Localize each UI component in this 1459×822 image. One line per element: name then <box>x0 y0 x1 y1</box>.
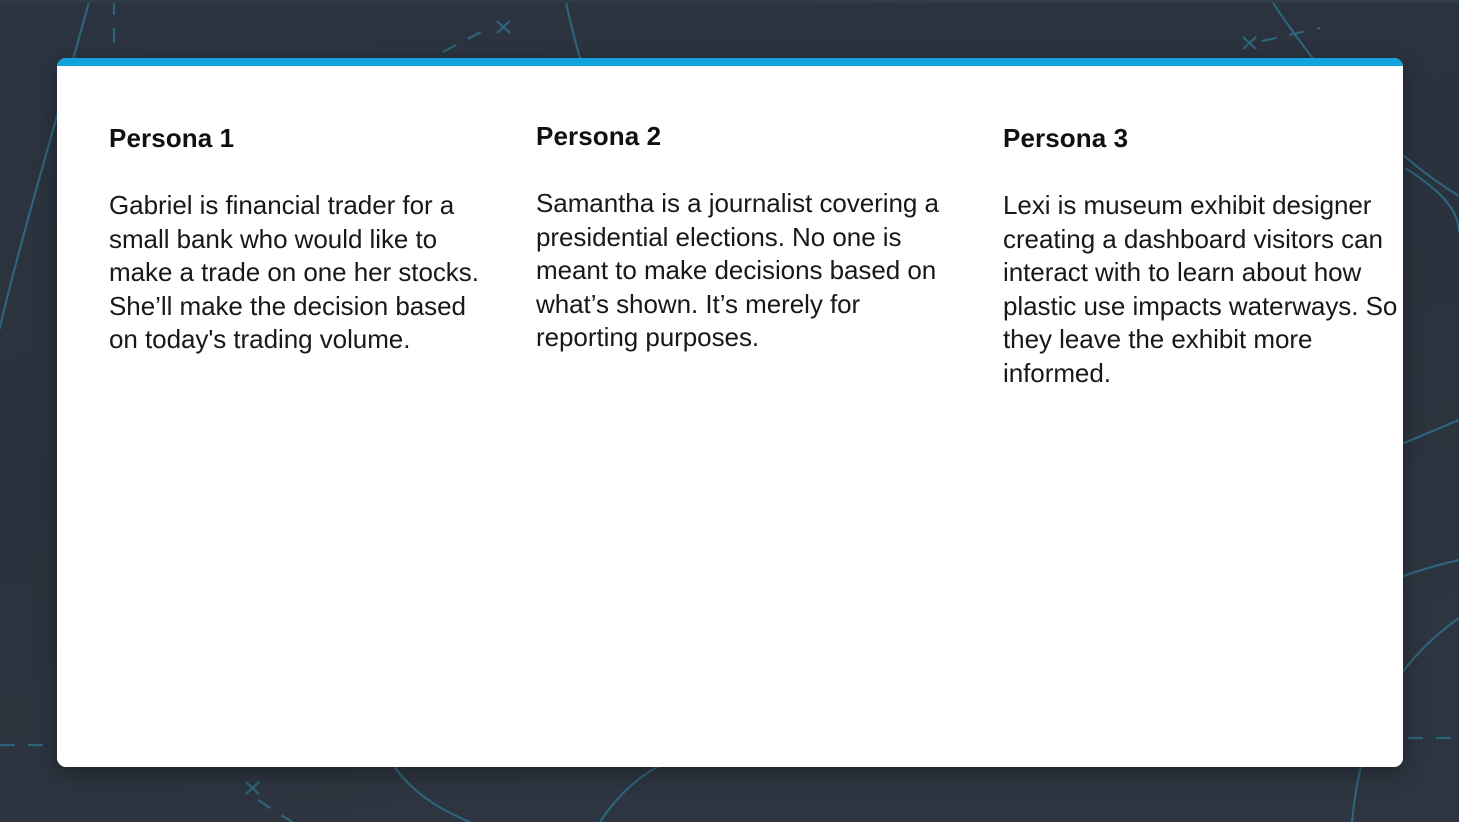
top-edge-band <box>0 0 1459 3</box>
persona-card: Persona 1 Gabriel is financial trader fo… <box>57 58 1403 767</box>
persona-1-title: Persona 1 <box>109 66 483 153</box>
persona-column-1: Persona 1 Gabriel is financial trader fo… <box>57 66 483 357</box>
persona-2-title: Persona 2 <box>536 64 955 151</box>
persona-column-2: Persona 2 Samantha is a journalist cover… <box>483 64 955 355</box>
persona-3-description: Lexi is museum exhibit designer creating… <box>1003 153 1403 390</box>
persona-1-description: Gabriel is financial trader for a small … <box>109 153 483 357</box>
persona-column-3: Persona 3 Lexi is museum exhibit designe… <box>955 66 1403 390</box>
persona-3-title: Persona 3 <box>1003 66 1403 153</box>
persona-2-description: Samantha is a journalist covering a pres… <box>536 151 955 355</box>
persona-columns: Persona 1 Gabriel is financial trader fo… <box>57 66 1403 390</box>
